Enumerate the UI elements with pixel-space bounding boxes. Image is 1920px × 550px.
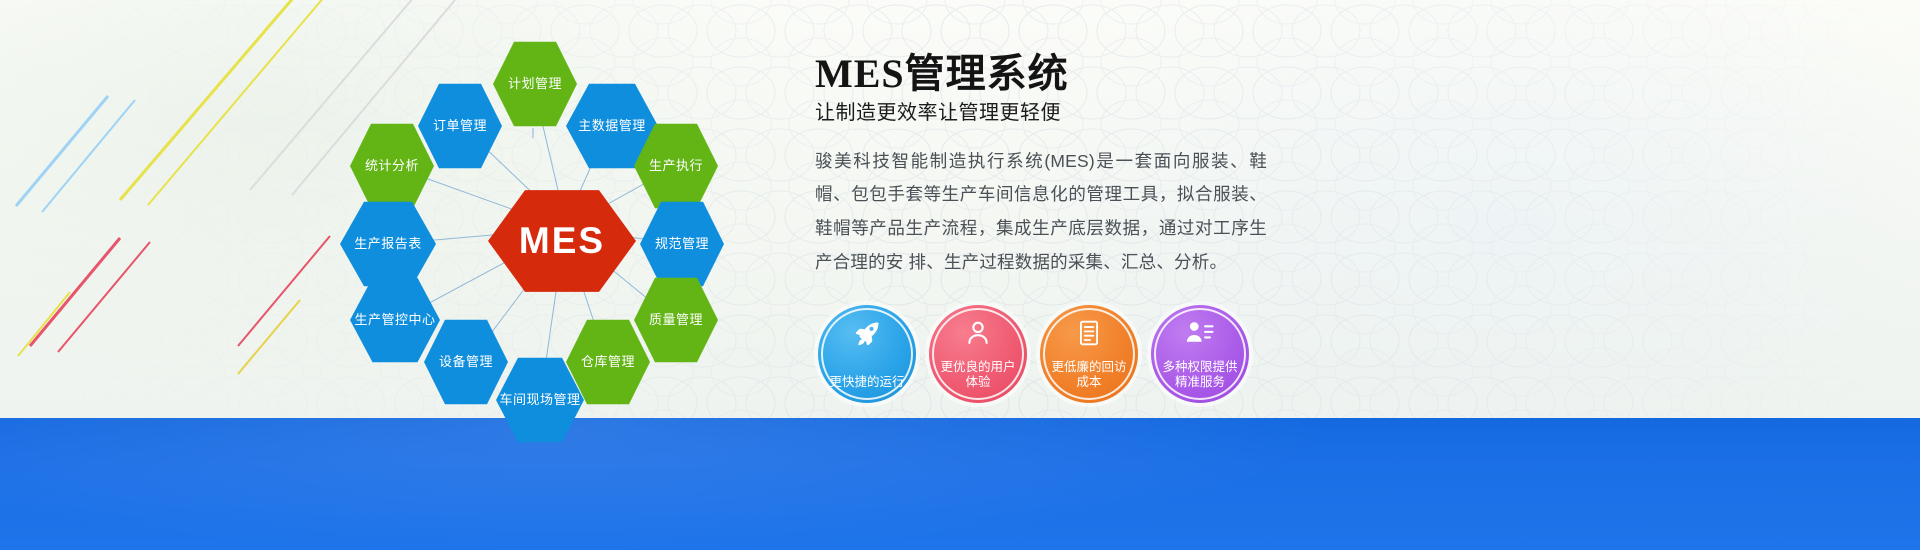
page-subtitle: 让制造更效率让管理更轻便 [815, 101, 1285, 125]
hex-node-label: 生产报告表 [354, 236, 422, 252]
hex-node-label: 仓库管理 [581, 354, 635, 370]
background-bottom-blue [0, 418, 1920, 550]
hex-node-label: 计划管理 [508, 76, 562, 92]
banner-content: MES管理系统 让制造更效率让管理更轻便 骏美科技智能制造执行系统(MES)是一… [815, 52, 1285, 279]
badge-label: 多种权限提供精准服务 [1151, 360, 1249, 391]
hex-node-label: 主数据管理 [578, 118, 646, 134]
hex-node-label: 订单管理 [433, 118, 487, 134]
feature-badge-fast-running[interactable]: 更快捷的运行 [818, 305, 916, 403]
hex-center-label: MES [519, 218, 605, 264]
hex-node-label: 质量管理 [649, 312, 703, 328]
user-list-icon [1151, 319, 1249, 345]
feature-badge-list: 更快捷的运行 更优良的用户体验 [818, 305, 1249, 403]
hex-node-label: 生产执行 [649, 158, 703, 174]
hex-node-label: 统计分析 [365, 158, 419, 174]
rocket-icon [818, 319, 916, 349]
hex-node-label: 设备管理 [439, 354, 493, 370]
page-title: MES管理系统 [815, 52, 1285, 97]
user-icon [929, 319, 1027, 347]
badge-label: 更快捷的运行 [821, 375, 912, 391]
mes-hex-diagram: MES 计划管理 订单管理 主数据管理 统计分析 生产执行 生产报告表 规范管理… [330, 10, 790, 430]
badge-label: 更低廉的回访成本 [1040, 360, 1138, 391]
hex-node-label: 规范管理 [655, 236, 709, 252]
feature-badge-user-experience[interactable]: 更优良的用户体验 [929, 305, 1027, 403]
feature-badge-low-revisit-cost[interactable]: 更低廉的回访成本 [1040, 305, 1138, 403]
document-icon [1040, 319, 1138, 347]
hex-node-label: 生产管控中心 [354, 312, 435, 328]
hex-node-label: 车间现场管理 [499, 392, 580, 408]
description-paragraph: 骏美科技智能制造执行系统(MES)是一套面向服装、鞋帽、包包手套等生产车间信息化… [815, 145, 1267, 279]
feature-badge-permissions[interactable]: 多种权限提供精准服务 [1151, 305, 1249, 403]
badge-label: 更优良的用户体验 [929, 360, 1027, 391]
mes-hero-banner: MES 计划管理 订单管理 主数据管理 统计分析 生产执行 生产报告表 规范管理… [0, 0, 1920, 550]
